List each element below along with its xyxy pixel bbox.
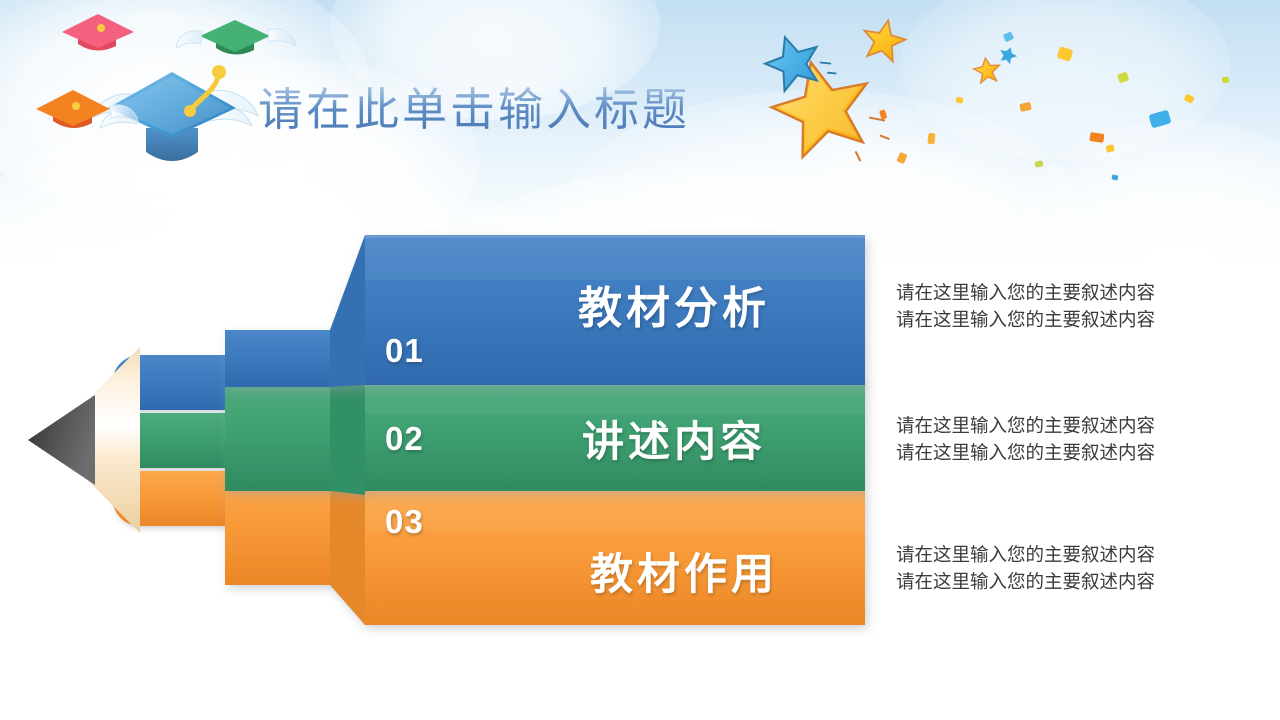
step-label-01: 教材分析 xyxy=(578,272,770,336)
description-line: 请在这里输入您的主要叙述内容 xyxy=(896,439,1155,466)
description-01: 请在这里输入您的主要叙述内容 请在这里输入您的主要叙述内容 xyxy=(896,279,1155,333)
description-line: 请在这里输入您的主要叙述内容 xyxy=(896,412,1155,439)
description-line: 请在这里输入您的主要叙述内容 xyxy=(896,541,1155,568)
step-number-02: 02 xyxy=(385,420,424,458)
step-label-02: 讲述内容 xyxy=(582,408,766,469)
slide-canvas: 请在此单击输入标题 xyxy=(0,0,1280,720)
ribbon-green xyxy=(225,380,865,495)
step-number-03: 03 xyxy=(385,503,424,541)
description-line: 请在这里输入您的主要叙述内容 xyxy=(896,568,1155,595)
description-line: 请在这里输入您的主要叙述内容 xyxy=(896,306,1155,333)
pencil-graphite-tip xyxy=(28,395,95,485)
description-02: 请在这里输入您的主要叙述内容 请在这里输入您的主要叙述内容 xyxy=(896,412,1155,466)
page-title: 请在此单击输入标题 xyxy=(258,86,690,136)
step-number-01: 01 xyxy=(385,332,424,370)
step-label-03: 教材作用 xyxy=(590,540,778,602)
description-line: 请在这里输入您的主要叙述内容 xyxy=(896,279,1155,306)
description-03: 请在这里输入您的主要叙述内容 请在这里输入您的主要叙述内容 xyxy=(896,541,1155,595)
